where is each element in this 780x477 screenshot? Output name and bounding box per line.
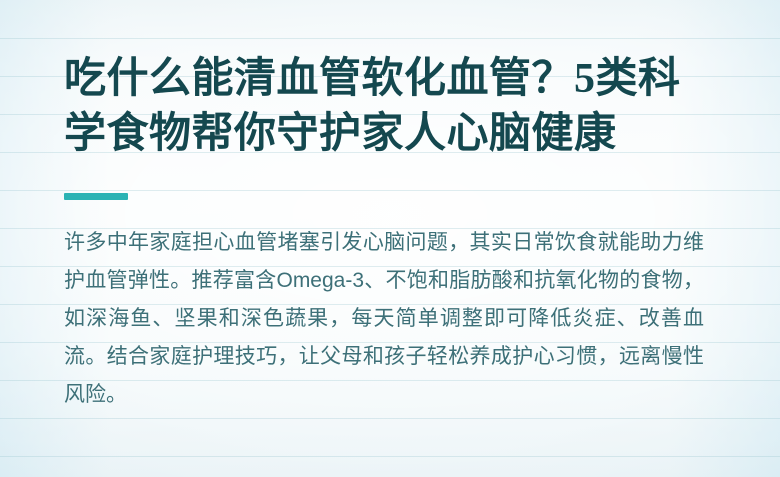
page-title: 吃什么能清血管软化血管？5类科学食物帮你守护家人心脑健康 <box>64 0 716 162</box>
card-content: 吃什么能清血管软化血管？5类科学食物帮你守护家人心脑健康 许多中年家庭担心血管堵… <box>0 0 780 414</box>
accent-divider <box>64 193 128 200</box>
article-card: 吃什么能清血管软化血管？5类科学食物帮你守护家人心脑健康 许多中年家庭担心血管堵… <box>0 0 780 477</box>
article-body-text: 许多中年家庭担心血管堵塞引发心脑问题，其实日常饮食就能助力维护血管弹性。推荐富含… <box>64 200 704 414</box>
